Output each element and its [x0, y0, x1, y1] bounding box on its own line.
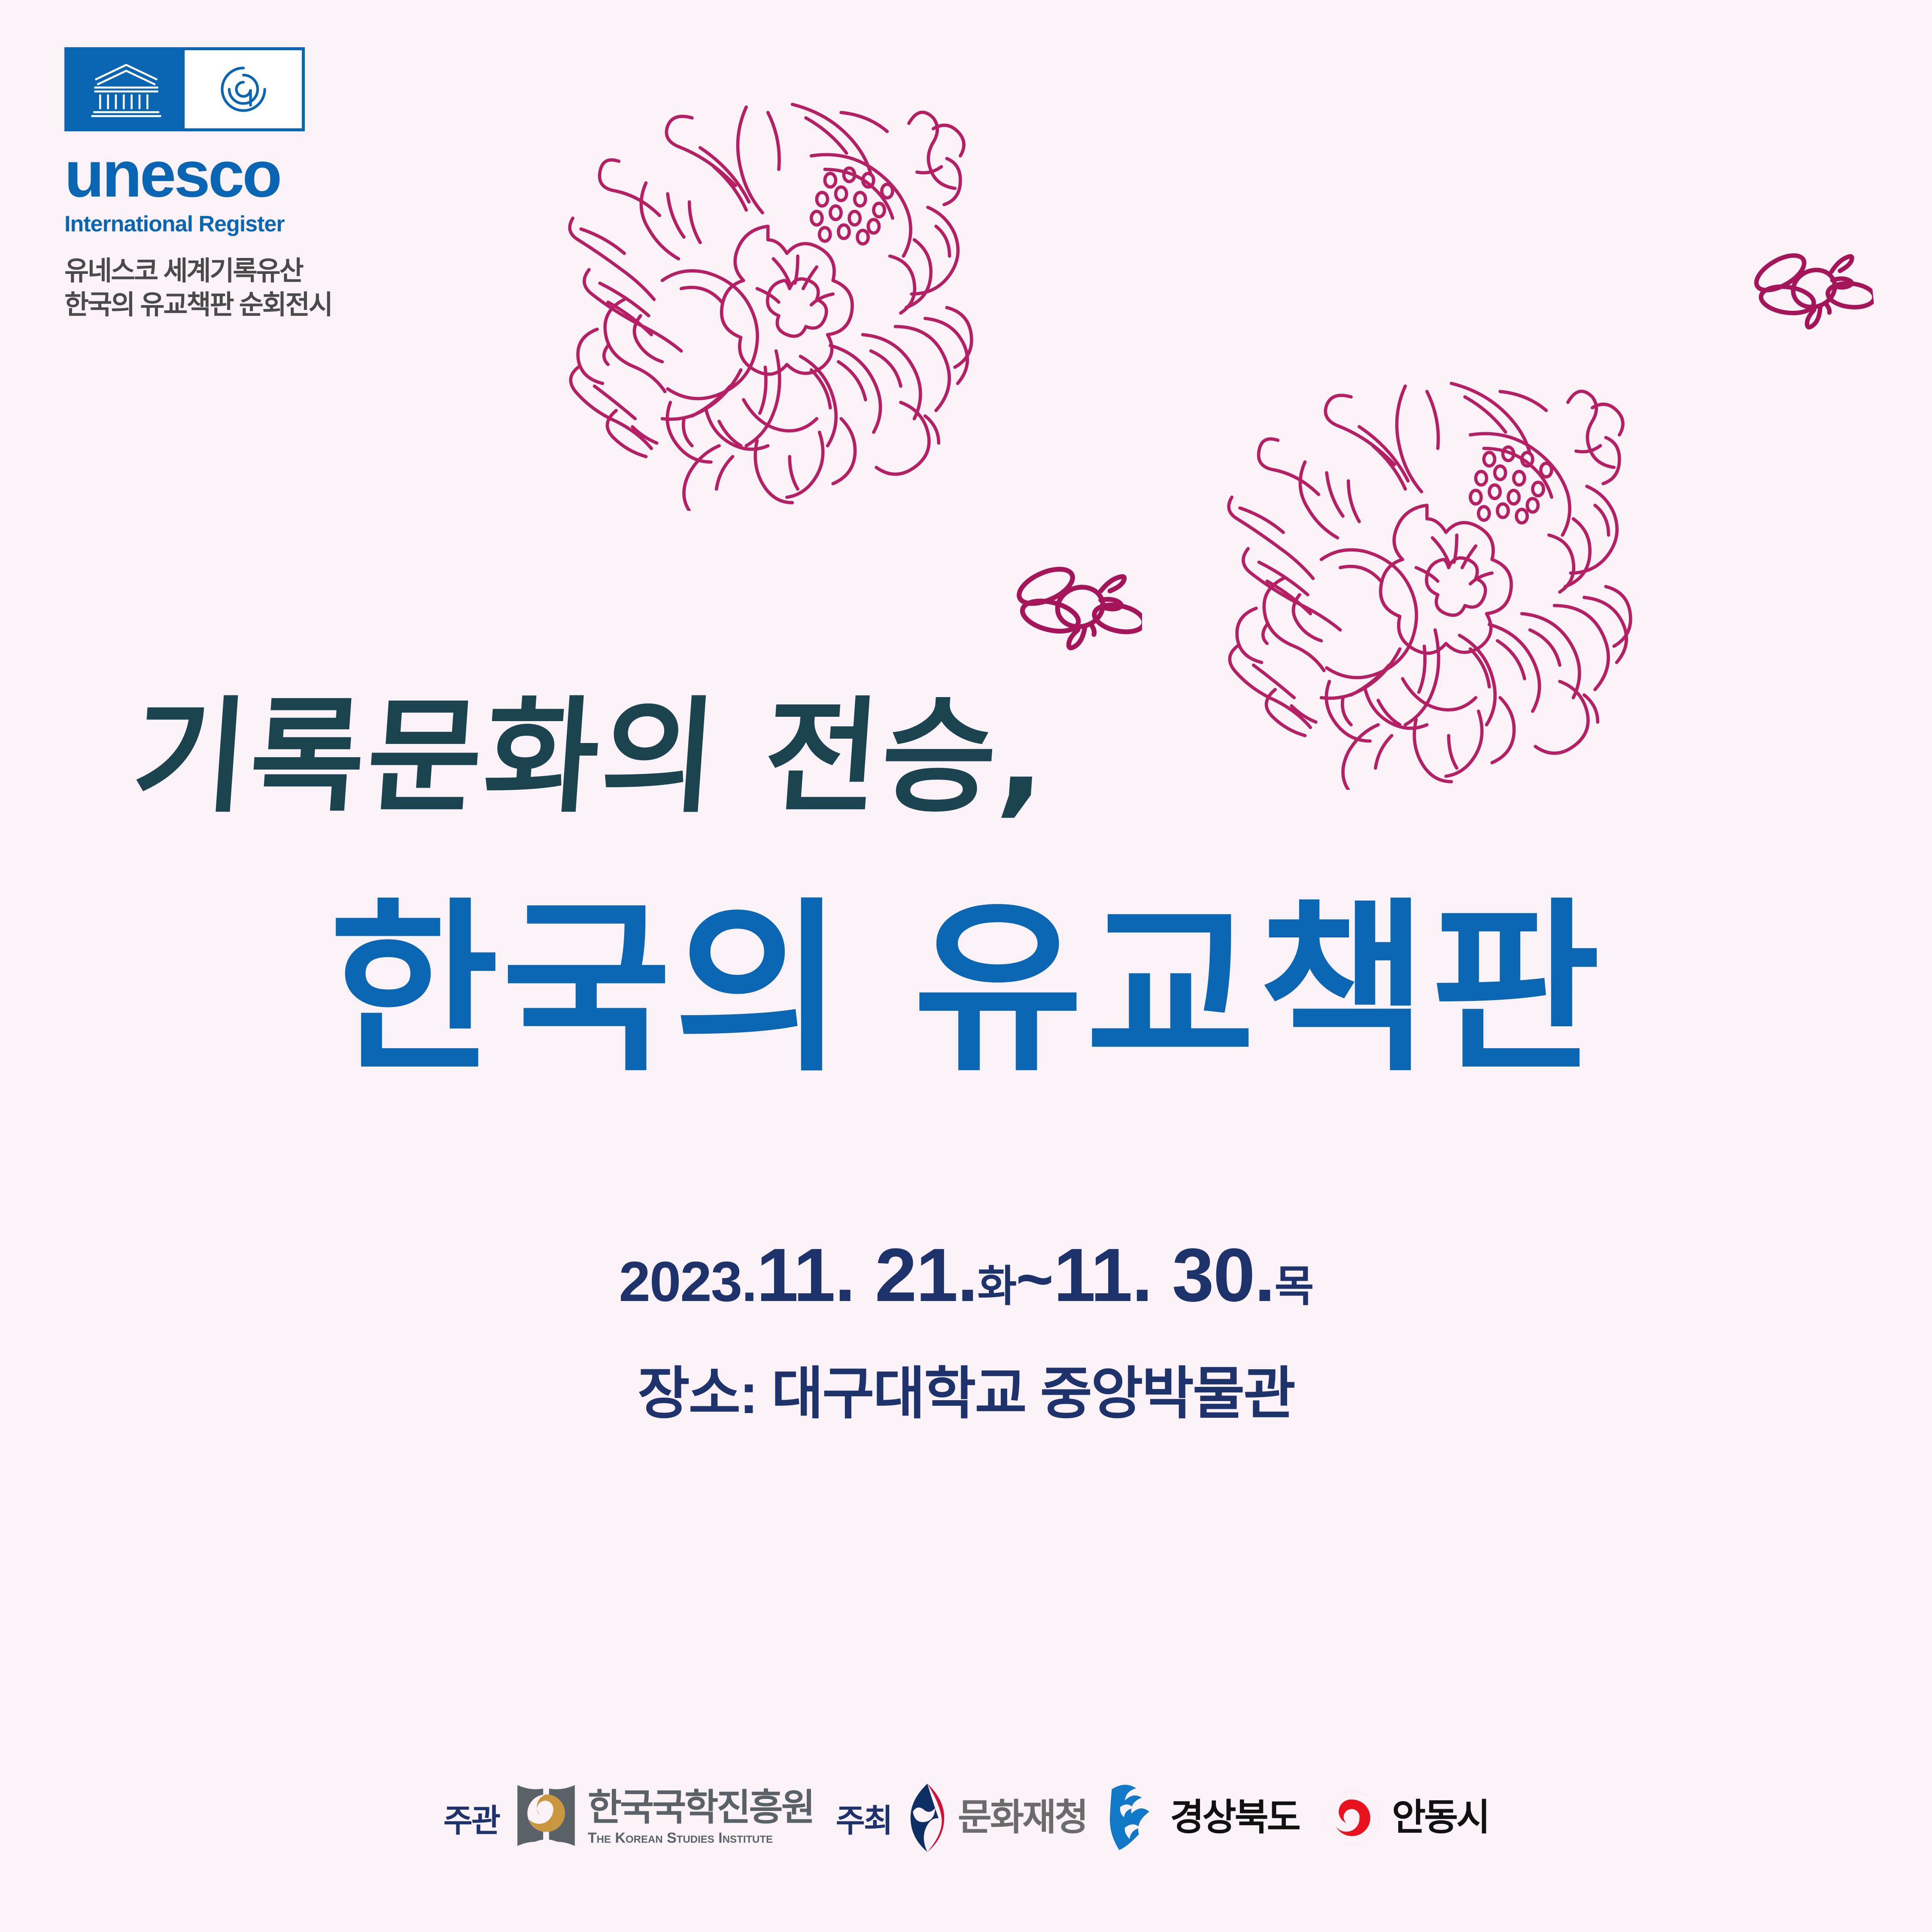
bee-motif-icon [1005, 545, 1142, 665]
gyeongbuk-unit: 경상북도 [1109, 1783, 1299, 1853]
andong-name-block: 안동시 [1392, 1799, 1488, 1837]
organization-name-en: The Korean Studies Institute [588, 1830, 814, 1847]
andong-unit: 안동시 [1321, 1787, 1488, 1848]
organization-name: 한국국학진흥원 [588, 1789, 814, 1827]
memory-of-the-world-spiral-icon [185, 50, 302, 128]
exhibition-kicker-text: 유네스코 세계기록유산 한국의 유교책판 순회전시 [64, 254, 494, 322]
cha-name-block: 문화재청 [958, 1799, 1087, 1837]
unesco-temple-icon [67, 50, 185, 128]
exhibition-venue: 장소: 대구대학교 중앙박물관 [0, 1348, 1932, 1430]
gyeongbuk-name-block: 경상북도 [1170, 1799, 1299, 1837]
gyeongsangbuk-do-logo-icon [1109, 1783, 1160, 1853]
korean-studies-institute-logo-icon [514, 1783, 578, 1853]
date-end: 11. 30. [1054, 1233, 1275, 1317]
pomegranate-floral-motif-icon [539, 77, 1002, 511]
date-start: 11. 21. [756, 1233, 978, 1317]
title-line-one: 기록문화의 전승, [129, 695, 1053, 820]
page-title: 한국의 유교책판 [0, 897, 1932, 1082]
date-start-day: 화 [977, 1262, 1016, 1310]
organization-name: 안동시 [1392, 1799, 1488, 1837]
organization-name: 경상북도 [1170, 1799, 1299, 1837]
unesco-wordmark: unesco [64, 146, 494, 203]
andong-city-logo-icon [1321, 1787, 1382, 1848]
ksi-name-block: 한국국학진흥원 The Korean Studies Institute [588, 1789, 814, 1847]
host-unit: 주최 문화재청 [836, 1783, 1087, 1853]
header-block: unesco International Register 유네스코 세계기록유… [64, 47, 494, 322]
unesco-register-label: International Register [64, 211, 494, 237]
unesco-memory-of-the-world-emblem [64, 47, 305, 131]
organizer-label: 주관 [444, 1795, 499, 1841]
organizer-unit: 주관 한국국학진흥원 The Korean Studies Institute [444, 1783, 814, 1853]
footer-sponsors: 주관 한국국학진흥원 The Korean Studies Institute … [0, 1768, 1932, 1867]
bee-motif-icon [1738, 225, 1877, 350]
exhibition-poster: unesco International Register 유네스코 세계기록유… [0, 0, 1932, 1932]
date-end-day: 목 [1274, 1262, 1313, 1310]
host-label: 주최 [836, 1795, 892, 1841]
organization-name: 문화재청 [958, 1799, 1087, 1837]
exhibition-date-range: 2023.11. 21.화~11. 30.목 [0, 1232, 1932, 1319]
pomegranate-floral-motif-icon [1198, 356, 1662, 790]
date-separator: ~ [1016, 1243, 1054, 1315]
cultural-heritage-administration-logo-icon [906, 1783, 948, 1853]
date-year: 2023. [619, 1250, 756, 1313]
